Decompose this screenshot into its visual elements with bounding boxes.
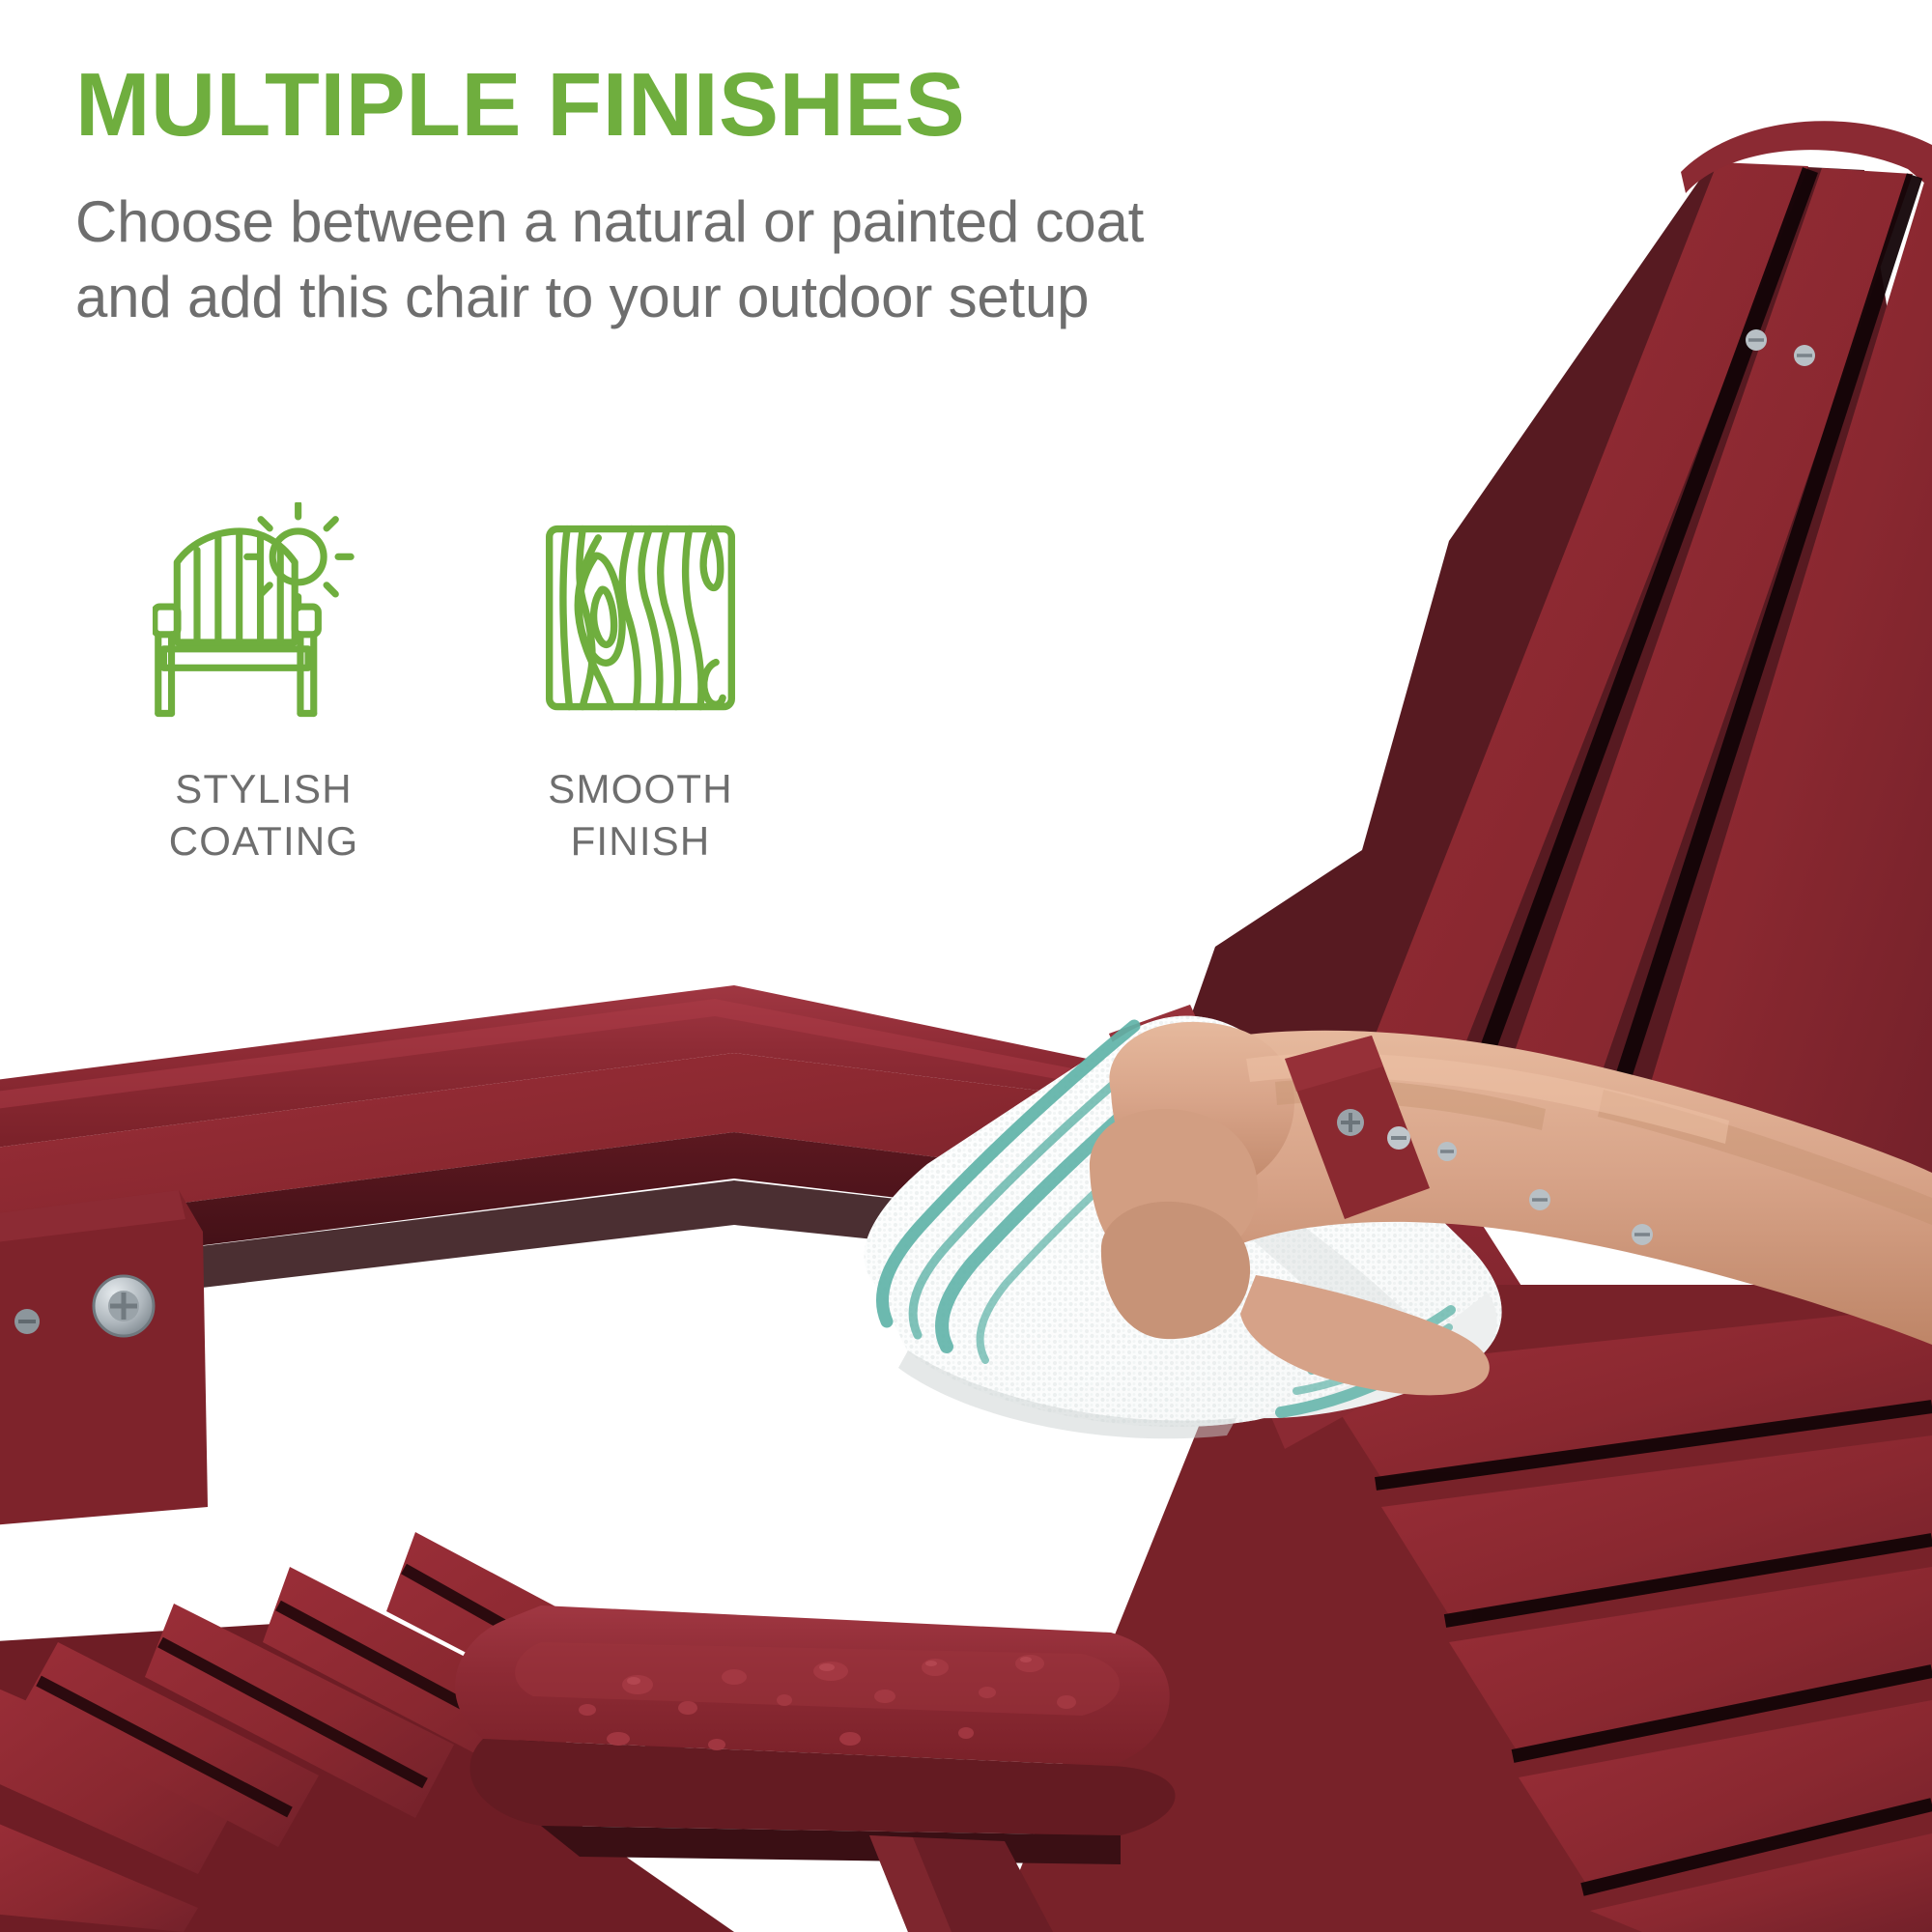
feature-label-line-1: SMOOTH — [548, 763, 733, 815]
wood-grain-icon — [529, 502, 752, 724]
hardware-screw-bracket — [1337, 1109, 1364, 1136]
copy-block: MULTIPLE FINISHES Choose between a natur… — [75, 60, 1293, 335]
subtitle-line-1: Choose between a natural or painted coat — [75, 185, 1293, 260]
chair-seat-front-edge — [455, 1605, 1175, 1864]
feature-list: STYLISH COATING — [75, 502, 1215, 867]
page-title: MULTIPLE FINISHES — [75, 60, 1293, 150]
feature-label-line-2: FINISH — [548, 815, 733, 867]
feature-label-line-2: COATING — [169, 815, 359, 867]
hardware-screw-small — [14, 1309, 40, 1334]
subtitle-line-2: and add this chair to your outdoor setup — [75, 260, 1293, 335]
feature-label-smooth-finish: SMOOTH FINISH — [548, 763, 733, 867]
marketing-banner: MULTIPLE FINISHES Choose between a natur… — [0, 0, 1932, 1932]
feature-label-stylish-coating: STYLISH COATING — [169, 763, 359, 867]
subtitle: Choose between a natural or painted coat… — [75, 185, 1293, 335]
feature-smooth-finish: SMOOTH FINISH — [452, 502, 829, 867]
chair-armrest-support — [0, 1190, 208, 1526]
hardware-bolt — [94, 1276, 154, 1336]
feature-label-line-1: STYLISH — [169, 763, 359, 815]
feature-stylish-coating: STYLISH COATING — [75, 502, 452, 867]
adirondack-chair-sun-icon — [153, 502, 375, 724]
